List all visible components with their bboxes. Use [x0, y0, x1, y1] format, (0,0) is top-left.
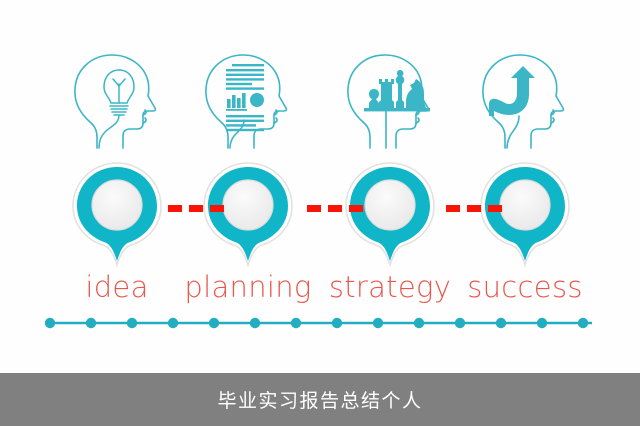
step-labels-row: idea planning strategy success [0, 268, 640, 308]
pin-marker-idea[interactable] [65, 160, 169, 268]
head-icons-row [0, 52, 640, 152]
head-growth-arrow-icon [465, 52, 585, 152]
dotted-timeline [44, 316, 596, 330]
pin-markers-row [0, 160, 640, 270]
caption-text: 毕业实习报告总结个人 [217, 386, 422, 413]
pin-marker-planning[interactable] [196, 160, 300, 268]
timeline-dot [455, 318, 465, 328]
dash-segment [446, 205, 460, 212]
caption-bar: 毕业实习报告总结个人 [0, 373, 640, 426]
timeline-dot [414, 318, 424, 328]
dash-segment [307, 205, 321, 212]
connector-strategy-success [446, 204, 502, 212]
dash-segment [467, 205, 481, 212]
pin-marker-success[interactable] [473, 160, 577, 268]
step-label-success: success [425, 268, 625, 306]
timeline-dot [45, 318, 55, 328]
head-report-chart-icon [188, 52, 308, 152]
infographic-canvas: idea planning strategy success [0, 0, 640, 426]
timeline-dot [168, 318, 178, 328]
timeline-dot [291, 318, 301, 328]
dash-segment [210, 205, 224, 212]
timeline-dot [496, 318, 506, 328]
connector-idea-planning [168, 204, 224, 212]
dash-segment [349, 205, 363, 212]
timeline-dot [332, 318, 342, 328]
dash-segment [488, 205, 502, 212]
dash-segment [328, 205, 342, 212]
timeline-dot [209, 318, 219, 328]
pin-marker-strategy[interactable] [338, 160, 442, 268]
head-chess-pieces-icon [330, 52, 450, 152]
timeline-dot [86, 318, 96, 328]
timeline-dot [537, 318, 547, 328]
timeline-dot [578, 318, 588, 328]
timeline-dot [373, 318, 383, 328]
timeline-dot [127, 318, 137, 328]
head-lightbulb-icon [57, 52, 177, 152]
dash-segment [189, 205, 203, 212]
dash-segment [168, 205, 182, 212]
connector-planning-strategy [307, 204, 363, 212]
timeline-dot [250, 318, 260, 328]
